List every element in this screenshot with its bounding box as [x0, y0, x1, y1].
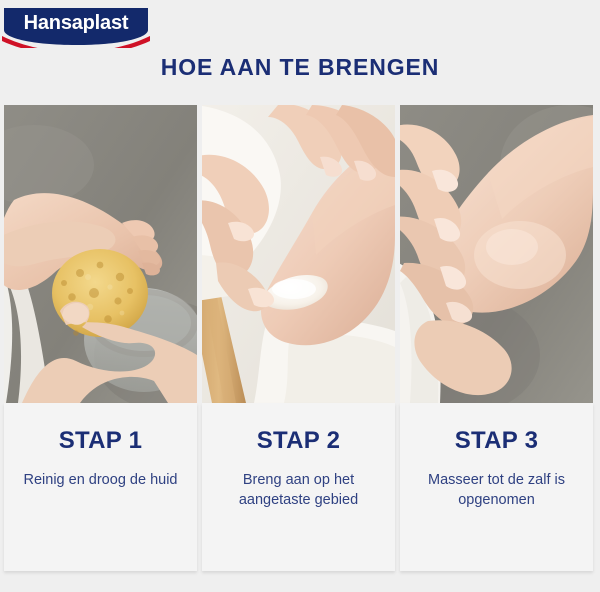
step-photo-2 [202, 105, 395, 403]
photo-foot-washing-illustration [4, 105, 197, 403]
step-label: STAP 1 [4, 429, 197, 453]
header: Hansaplast HOE AAN TE BRENGEN [0, 0, 600, 105]
step-card-3: STAP 3 Masseer tot de zalf is opgenomen [400, 403, 593, 571]
steps-container: STAP 1 Reinig en droog de huid [4, 105, 593, 571]
step-photo-3 [400, 105, 593, 403]
photo-cream-application-illustration [202, 105, 395, 403]
photo-massage-illustration [400, 105, 593, 403]
step-column-2: STAP 2 Breng aan op het aangetaste gebie… [202, 105, 395, 571]
step-description: Reinig en droog de huid [4, 471, 197, 491]
step-description: Masseer tot de zalf is opgenomen [400, 471, 593, 510]
step-column-3: STAP 3 Masseer tot de zalf is opgenomen [400, 105, 593, 571]
step-label: STAP 2 [202, 429, 395, 453]
step-label: STAP 3 [400, 429, 593, 453]
logo-shield-icon [2, 6, 150, 48]
page-title: HOE AAN TE BRENGEN [0, 54, 600, 81]
step-photo-1 [4, 105, 197, 403]
hansaplast-logo: Hansaplast [2, 6, 150, 52]
step-card-2: STAP 2 Breng aan op het aangetaste gebie… [202, 403, 395, 571]
step-description: Breng aan op het aangetaste gebied [202, 471, 395, 510]
step-card-1: STAP 1 Reinig en droog de huid [4, 403, 197, 571]
step-column-1: STAP 1 Reinig en droog de huid [4, 105, 197, 571]
